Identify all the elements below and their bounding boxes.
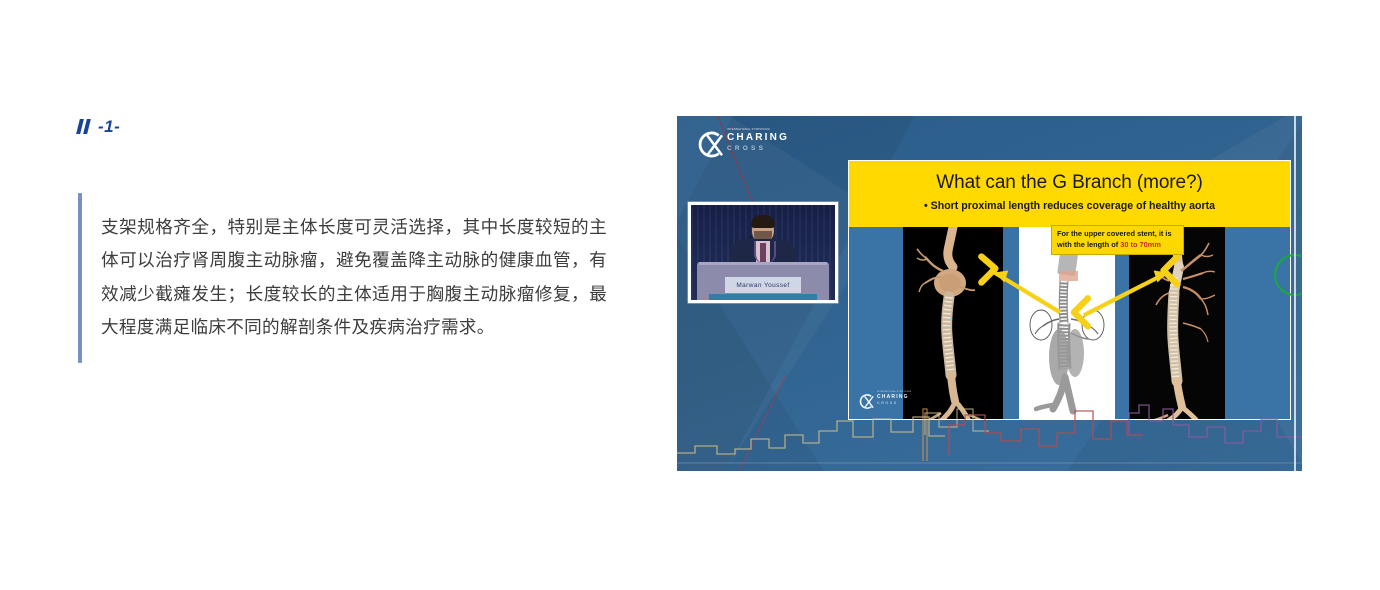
conference-slide-photo: INTERNATIONAL SYMPOSIUM CHARING CROSS Ma…	[677, 116, 1302, 471]
schematic-panel-center	[1019, 227, 1115, 419]
cx-watermark-subname: CROSS	[877, 401, 898, 406]
ct-panel-right	[1129, 227, 1225, 419]
slide-content-panel: What can the G Branch (more?) • Short pr…	[848, 160, 1291, 420]
panel-spacer	[1003, 227, 1019, 419]
ct-aorta-right-image	[1129, 227, 1225, 419]
slide-title: What can the G Branch (more?)	[849, 170, 1290, 196]
article-text-column: -1- 支架规格齐全，特别是主体长度可灵活选择，其中长度较短的主体可以治疗肾周腹…	[78, 112, 623, 363]
speaker-photo-inset: Marwan Youssef	[688, 202, 838, 303]
panel-spacer	[1115, 227, 1129, 419]
cx-watermark-name: CHARING	[877, 394, 909, 400]
podium-top-edge	[699, 262, 827, 265]
stent-length-callout: For the upper covered stent, it is with …	[1051, 225, 1184, 255]
section-heading-label: -1-	[98, 118, 120, 135]
callout-line-1: For the upper covered stent, it is	[1057, 229, 1178, 240]
speaker-photo: Marwan Youssef	[691, 205, 835, 300]
slide-bullet: • Short proximal length reduces coverage…	[849, 198, 1290, 214]
cx-monogram-icon	[857, 392, 876, 411]
speaker-hair	[751, 215, 775, 228]
vertical-white-stripe	[1294, 116, 1296, 471]
cx-watermark-logo: INTERNATIONAL SYMPOSIUM CHARING CROSS	[857, 391, 919, 413]
speaker-lanyard	[754, 241, 776, 263]
panel-spacer	[1225, 227, 1290, 419]
article-body-block: 支架规格齐全，特别是主体长度可灵活选择，其中长度较短的主体可以治疗肾周腹主动脉瘤…	[78, 193, 623, 363]
cx-logo-name: CHARING	[727, 132, 787, 144]
callout-highlight: 30 to 70mm	[1120, 240, 1161, 249]
cx-monogram-icon	[694, 128, 727, 161]
section-heading: -1-	[78, 112, 623, 140]
speaker-name: Marwan Youssef	[736, 282, 789, 289]
podium-blue-band	[709, 294, 817, 300]
callout-line-2: with the length of 30 to 70mm	[1057, 240, 1178, 251]
double-slash-quote-icon	[76, 119, 91, 134]
cx-logo-subname: CROSS	[727, 144, 787, 153]
stent-graft-schematic-image	[1019, 227, 1115, 419]
left-accent-bar	[78, 193, 82, 363]
slide-yellow-header: What can the G Branch (more?) • Short pr…	[849, 161, 1290, 227]
callout-prefix: with the length of	[1057, 240, 1120, 249]
podium-nameplate: Marwan Youssef	[725, 277, 801, 293]
article-paragraph: 支架规格齐全，特别是主体长度可灵活选择，其中长度较短的主体可以治疗肾周腹主动脉瘤…	[101, 211, 607, 345]
cx-conference-logo: INTERNATIONAL SYMPOSIUM CHARING CROSS	[694, 126, 786, 166]
